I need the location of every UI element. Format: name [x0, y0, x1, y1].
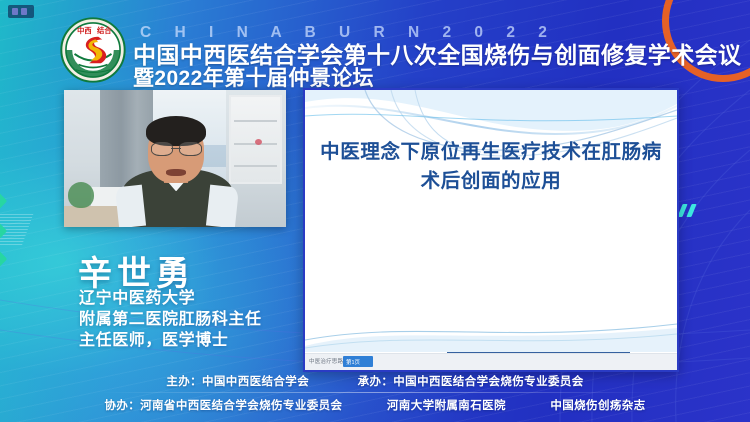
event-footer: 主办：中国中西医结合学会 承办：中国中西医结合学会烧伤专业委员会 协办：河南省中… — [0, 368, 750, 422]
diamond-shape — [0, 248, 7, 271]
footer-item: 河南大学附属南石医院 — [387, 397, 506, 413]
speaker-affiliation: 辽宁中医药大学 附属第二医院肛肠科主任 主任医师，医学博士 — [79, 288, 262, 351]
event-header: 中西 结合 C H I N A B U R N 2 0 2 2 中国中西医结合学… — [0, 0, 750, 88]
speaker-affiliation-line1: 辽宁中医药大学 — [79, 288, 262, 309]
presentation-slide[interactable]: 中医理念下原位再生医疗技术在肛肠病 术后创面的应用 辽宁中医药大学附属第二医院辛… — [303, 88, 679, 372]
svg-text:中西: 中西 — [77, 26, 92, 35]
footer-item: 主办：中国中西医结合学会 — [166, 373, 309, 389]
shelf-ornament — [255, 139, 262, 145]
footer-row-organizers: 主办：中国中西医结合学会 承办：中国中西医结合学会烧伤专业委员会 — [0, 372, 750, 390]
svg-text:结合: 结合 — [96, 26, 112, 35]
glasses-icon — [151, 142, 202, 154]
broadcast-stage: 中西 结合 C H I N A B U R N 2 0 2 2 中国中西医结合学… — [0, 0, 750, 422]
slide-wave-decoration-bottom — [305, 306, 677, 352]
slide-title: 中医理念下原位再生医疗技术在肛肠病 术后创面的应用 — [315, 138, 667, 196]
diamond-shape — [0, 190, 7, 213]
room-plant — [68, 182, 94, 208]
slide-page-chip[interactable]: 第1页 — [343, 356, 373, 367]
green-diamond-decoration — [0, 175, 60, 285]
slide-title-line2: 术后创面的应用 — [315, 167, 667, 196]
speaker-affiliation-line3: 主任医师，医学博士 — [79, 330, 262, 351]
china-burn-association-logo: 中西 结合 — [60, 17, 126, 83]
speaker-mouth — [166, 169, 186, 176]
footer-row-coorganizers: 协办：河南省中西医结合学会烧伤专业委员会 河南大学附属南石医院 中国烧伤创疡杂志 — [0, 396, 750, 414]
webcam-scene — [64, 90, 286, 227]
speaker-affiliation-line2: 附属第二医院肛肠科主任 — [79, 309, 262, 330]
footer-item: 协办：河南省中西医结合学会烧伤专业委员会 — [104, 397, 342, 413]
speaker-shirt-right — [206, 185, 239, 227]
footer-divider — [100, 392, 650, 393]
slide-title-line1: 中医理念下原位再生医疗技术在肛肠病 — [315, 138, 667, 167]
footer-item: 承办：中国中西医结合学会烧伤专业委员会 — [358, 373, 584, 389]
speaker-webcam-feed[interactable] — [64, 90, 286, 227]
footer-item: 中国烧伤创疡杂志 — [550, 397, 645, 413]
slide-page-label: 第1页 — [346, 358, 360, 366]
speaker-shirt-left — [115, 185, 146, 227]
